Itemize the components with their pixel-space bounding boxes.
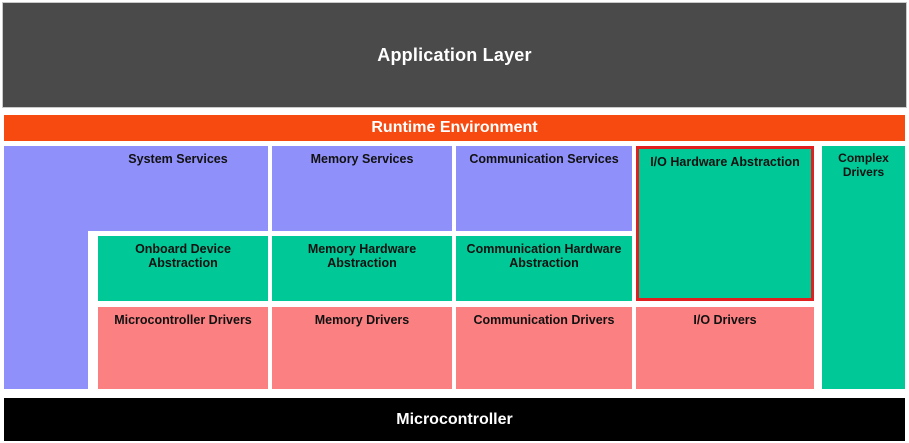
communication-services-label: Communication Services xyxy=(465,152,622,231)
memory-drivers-block: Memory Drivers xyxy=(272,307,452,389)
memory-hardware-abstraction-block: Memory Hardware Abstraction xyxy=(272,236,452,301)
memory-drivers-label: Memory Drivers xyxy=(311,313,414,389)
microcontroller-label: Microcontroller xyxy=(396,411,512,429)
microcontroller-block: Microcontroller xyxy=(4,398,905,441)
communication-hardware-abstraction-block: Communication Hardware Abstraction xyxy=(456,236,632,301)
memory-services-label: Memory Services xyxy=(307,152,418,231)
io-drivers-block: I/O Drivers xyxy=(636,307,814,389)
system-services-spine-label xyxy=(42,152,50,389)
runtime-environment-block: Runtime Environment xyxy=(4,115,905,141)
io-hardware-abstraction-block: I/O Hardware Abstraction xyxy=(636,146,814,301)
io-hardware-abstraction-label: I/O Hardware Abstraction xyxy=(646,155,804,298)
application-layer-block: Application Layer xyxy=(2,2,907,108)
io-drivers-label: I/O Drivers xyxy=(689,313,760,389)
communication-drivers-label: Communication Drivers xyxy=(469,313,618,389)
communication-drivers-block: Communication Drivers xyxy=(456,307,632,389)
runtime-environment-label: Runtime Environment xyxy=(371,119,537,137)
communication-services-block: Communication Services xyxy=(456,146,632,231)
microcontroller-drivers-block: Microcontroller Drivers xyxy=(98,307,268,389)
memory-hardware-abstraction-label: Memory Hardware Abstraction xyxy=(272,242,452,301)
complex-drivers-label: Complex Drivers xyxy=(822,152,905,389)
autosar-layered-architecture-diagram: Application Layer Runtime Environment Sy… xyxy=(0,0,909,443)
memory-services-block: Memory Services xyxy=(272,146,452,231)
complex-drivers-block: Complex Drivers xyxy=(822,146,905,389)
onboard-device-abstraction-block: Onboard Device Abstraction xyxy=(98,236,268,301)
microcontroller-drivers-label: Microcontroller Drivers xyxy=(110,313,256,389)
system-services-label: System Services xyxy=(124,152,231,231)
communication-hardware-abstraction-label: Communication Hardware Abstraction xyxy=(456,242,632,301)
basic-software-layer: System Services Memory Services Communic… xyxy=(4,146,905,392)
application-layer-label: Application Layer xyxy=(377,45,531,66)
system-services-block: System Services xyxy=(88,146,268,231)
onboard-device-abstraction-label: Onboard Device Abstraction xyxy=(98,242,268,301)
system-services-spine xyxy=(4,146,88,389)
